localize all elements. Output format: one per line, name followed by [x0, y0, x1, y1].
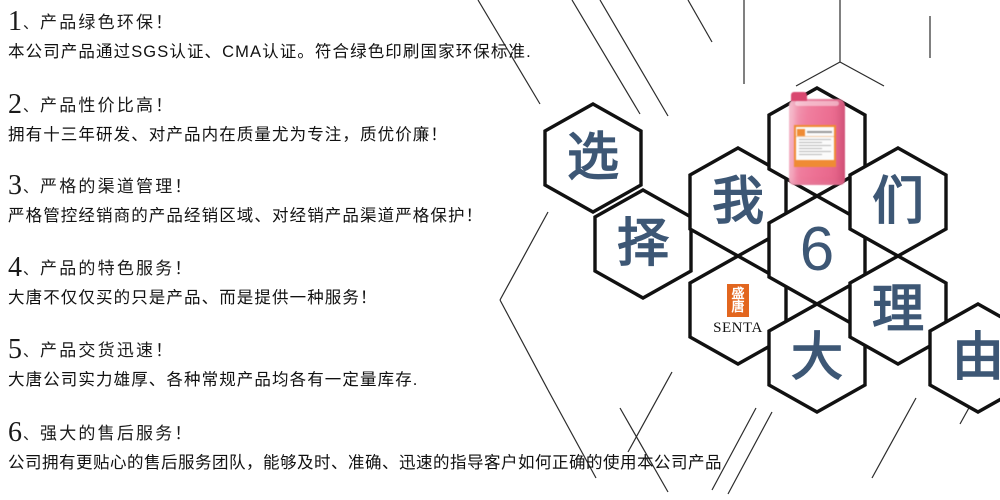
hexagon-label: 由 — [930, 304, 1000, 412]
label-text-line — [799, 145, 831, 146]
label-text-line — [799, 154, 822, 155]
hexagon-cluster: 选 择 我 — [0, 0, 1000, 500]
label-header — [796, 127, 834, 137]
hexagon-cell-ze[interactable]: 择 — [595, 190, 691, 298]
label-text-line — [799, 142, 822, 143]
promo-banner: 1 、 产品绿色环保！ 本公司产品通过SGS认证、CMA认证。符合绿色印刷国家环… — [0, 0, 1000, 500]
label-brand-swatch — [797, 129, 805, 136]
hexagon-label: 择 — [595, 190, 691, 298]
jerrycan-icon — [789, 99, 845, 185]
logo-mark: 盛 唐 — [727, 284, 749, 317]
label-footer-bar — [796, 160, 834, 165]
hexagon-cell-you[interactable]: 由 — [930, 304, 1000, 412]
product-label — [794, 125, 836, 167]
logo-mark-top-char: 盛 — [731, 288, 744, 301]
label-text-line — [799, 148, 822, 149]
label-text-line — [799, 151, 831, 152]
hexagon-label: 们 — [850, 148, 946, 256]
label-text-line — [799, 139, 831, 140]
hexagon-cell-men[interactable]: 们 — [850, 148, 946, 256]
logo-mark-bottom-char: 唐 — [731, 301, 744, 314]
label-title-line — [807, 131, 832, 133]
logo-wordmark: SENTA — [713, 320, 763, 337]
